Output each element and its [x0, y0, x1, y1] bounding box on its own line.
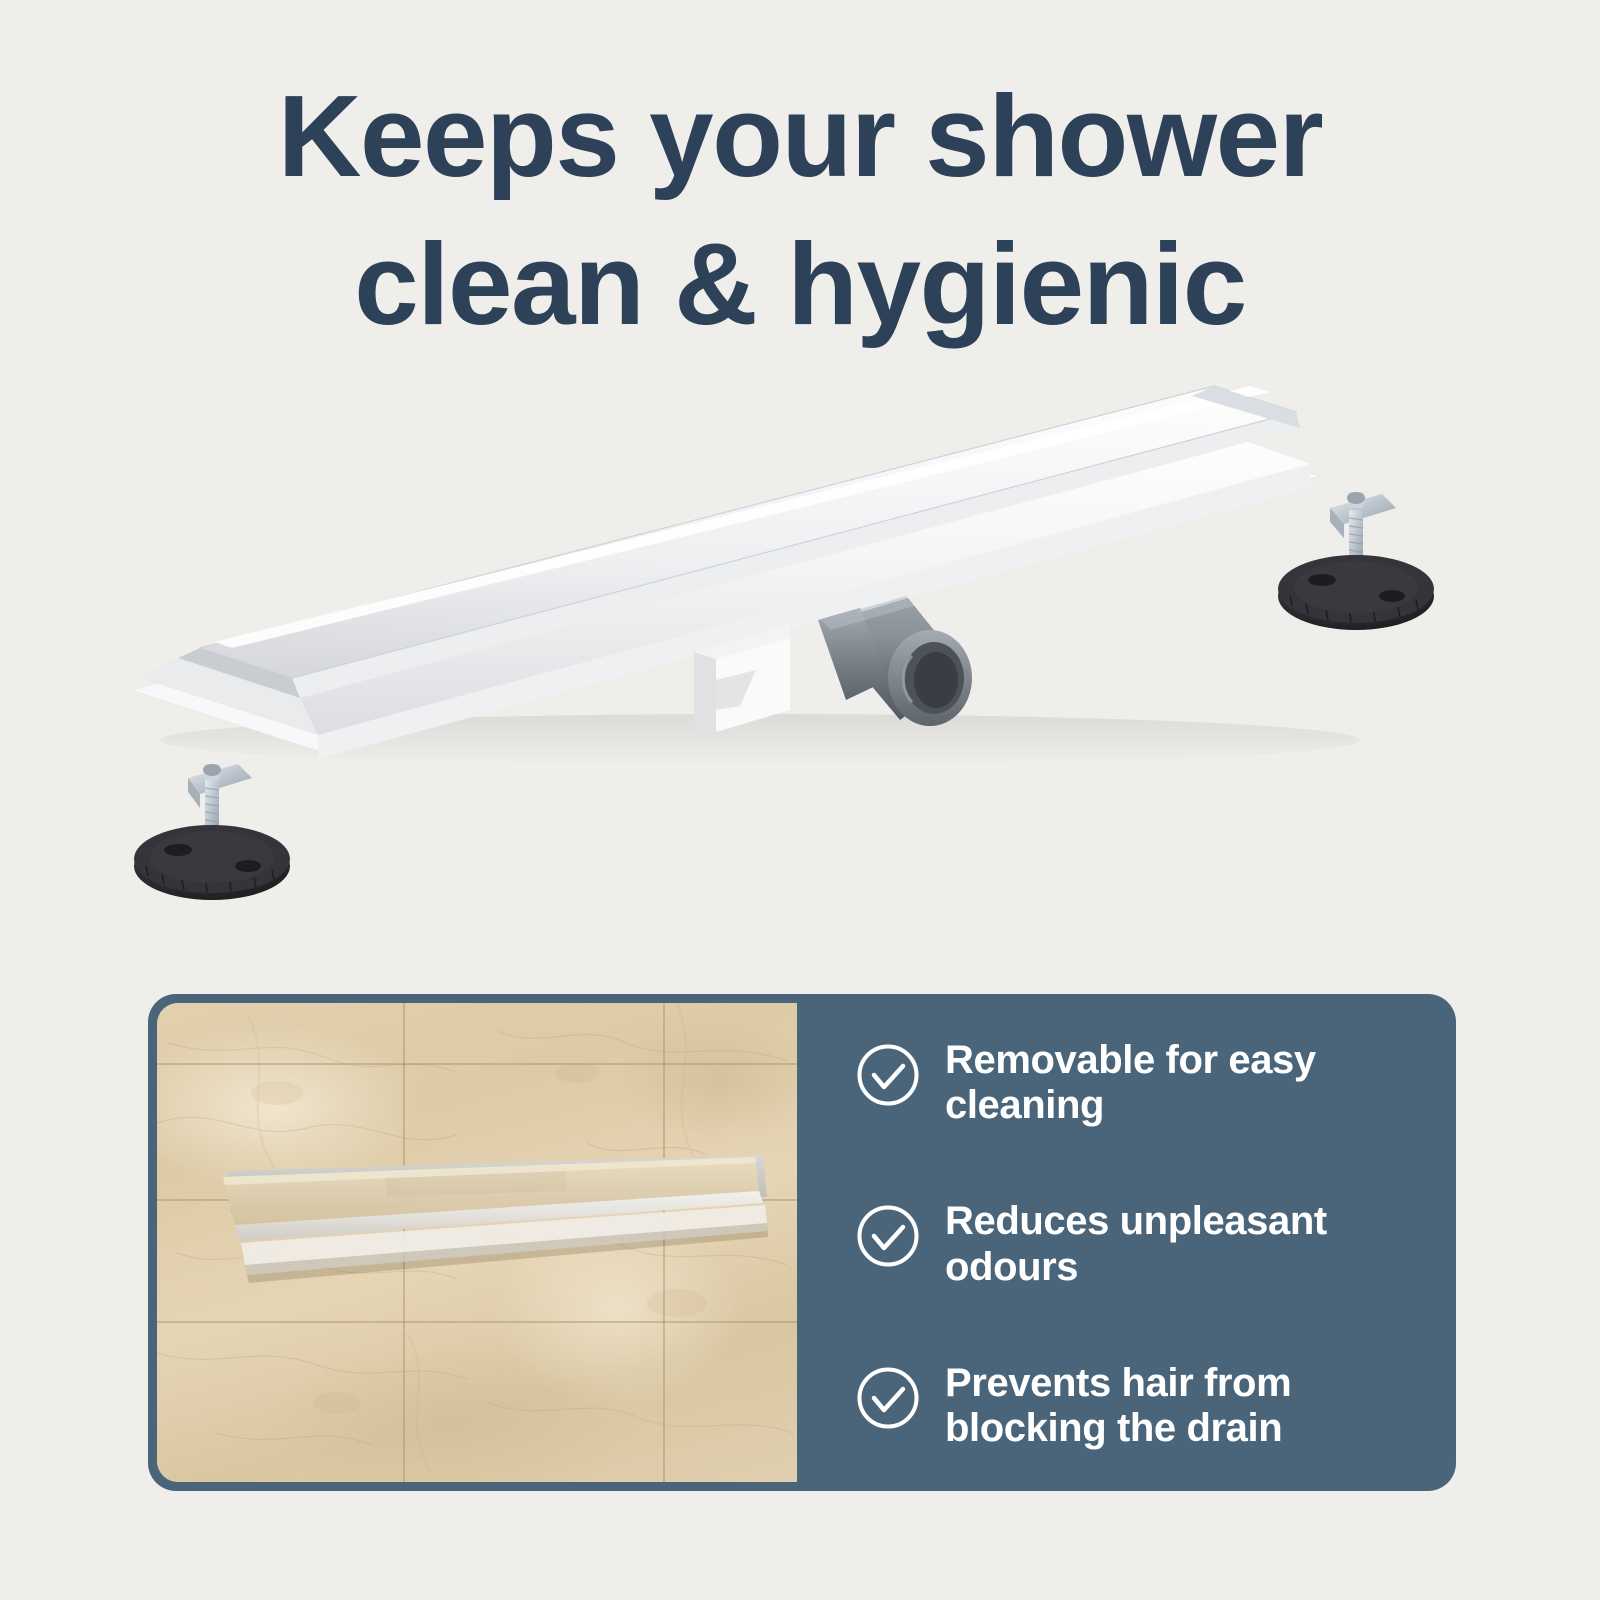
feature-list: Removable for easy cleaning Reduces unpl…	[797, 994, 1456, 1491]
installed-drain-graphic	[215, 1151, 775, 1316]
outlet-pipe	[818, 596, 972, 726]
circle-check-icon	[855, 1203, 921, 1269]
feature-item-hair: Prevents hair from blocking the drain	[855, 1361, 1422, 1451]
feature-item-removable: Removable for easy cleaning	[855, 1038, 1422, 1128]
drain-illustration	[0, 380, 1600, 940]
page-title: Keeps your shower clean & hygienic	[0, 62, 1600, 359]
tile-grout-line	[157, 1321, 797, 1323]
installed-drain-photo	[157, 1003, 797, 1482]
levelling-foot-right	[1278, 492, 1434, 630]
feature-item-odours: Reduces unpleasant odours	[855, 1199, 1422, 1289]
feature-label: Removable for easy cleaning	[945, 1038, 1415, 1128]
product-hero-image	[0, 380, 1600, 940]
circle-check-icon	[855, 1042, 921, 1108]
feature-label: Reduces unpleasant odours	[945, 1199, 1415, 1289]
feature-label: Prevents hair from blocking the drain	[945, 1361, 1415, 1451]
levelling-foot-left	[134, 764, 290, 900]
tile-grout-line	[157, 1063, 797, 1065]
circle-check-icon	[855, 1365, 921, 1431]
feature-panel: Removable for easy cleaning Reduces unpl…	[148, 994, 1456, 1491]
